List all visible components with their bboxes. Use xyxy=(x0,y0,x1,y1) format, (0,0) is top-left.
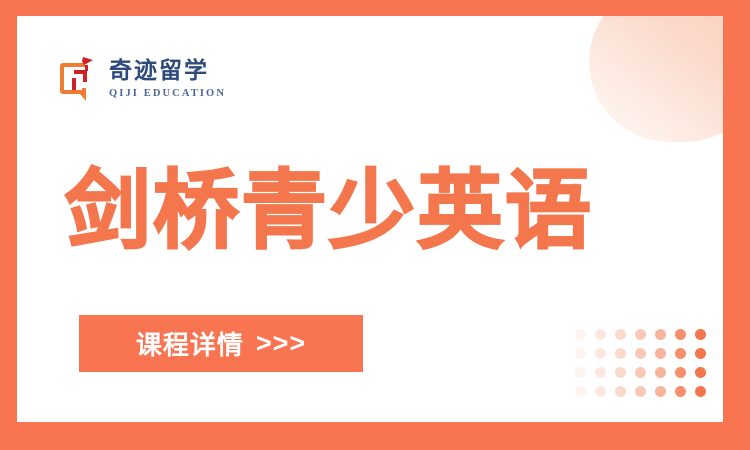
dot xyxy=(615,348,626,359)
dot xyxy=(635,329,646,340)
dot xyxy=(575,386,586,397)
dot-grid-decoration xyxy=(570,325,710,401)
dot xyxy=(575,367,586,378)
dot xyxy=(615,329,626,340)
dot xyxy=(595,348,606,359)
page-title: 剑桥青少英语 xyxy=(65,168,593,254)
course-promo-banner: 奇迹留学 QIJI EDUCATION 剑桥青少英语 课程详情 >>> xyxy=(0,0,750,450)
chevron-right-triple-icon: >>> xyxy=(256,328,306,359)
dot xyxy=(595,386,606,397)
dot xyxy=(595,367,606,378)
qiji-logo-icon xyxy=(55,54,99,104)
dot xyxy=(695,386,706,397)
dot xyxy=(675,367,686,378)
brand-name-en: QIJI EDUCATION xyxy=(109,88,226,99)
dot xyxy=(615,386,626,397)
banner-inner-panel: 奇迹留学 QIJI EDUCATION 剑桥青少英语 课程详情 >>> xyxy=(17,16,723,422)
brand-name-cn: 奇迹留学 xyxy=(109,59,226,85)
brand-logo[interactable]: 奇迹留学 QIJI EDUCATION xyxy=(55,54,226,104)
dot xyxy=(655,367,666,378)
dot xyxy=(675,329,686,340)
dot xyxy=(675,348,686,359)
dot xyxy=(675,386,686,397)
dot xyxy=(635,348,646,359)
dot xyxy=(695,348,706,359)
dot xyxy=(635,367,646,378)
dot xyxy=(635,386,646,397)
dot xyxy=(575,348,586,359)
dot xyxy=(655,348,666,359)
dot xyxy=(655,329,666,340)
course-details-button[interactable]: 课程详情 >>> xyxy=(79,315,363,372)
dot xyxy=(695,367,706,378)
dot xyxy=(695,329,706,340)
brand-logo-text: 奇迹留学 QIJI EDUCATION xyxy=(109,59,226,100)
dot xyxy=(655,386,666,397)
peach-rounded-blob-decoration xyxy=(589,16,723,142)
dot xyxy=(595,329,606,340)
course-details-label: 课程详情 xyxy=(136,325,244,362)
dot xyxy=(615,367,626,378)
dot xyxy=(575,329,586,340)
